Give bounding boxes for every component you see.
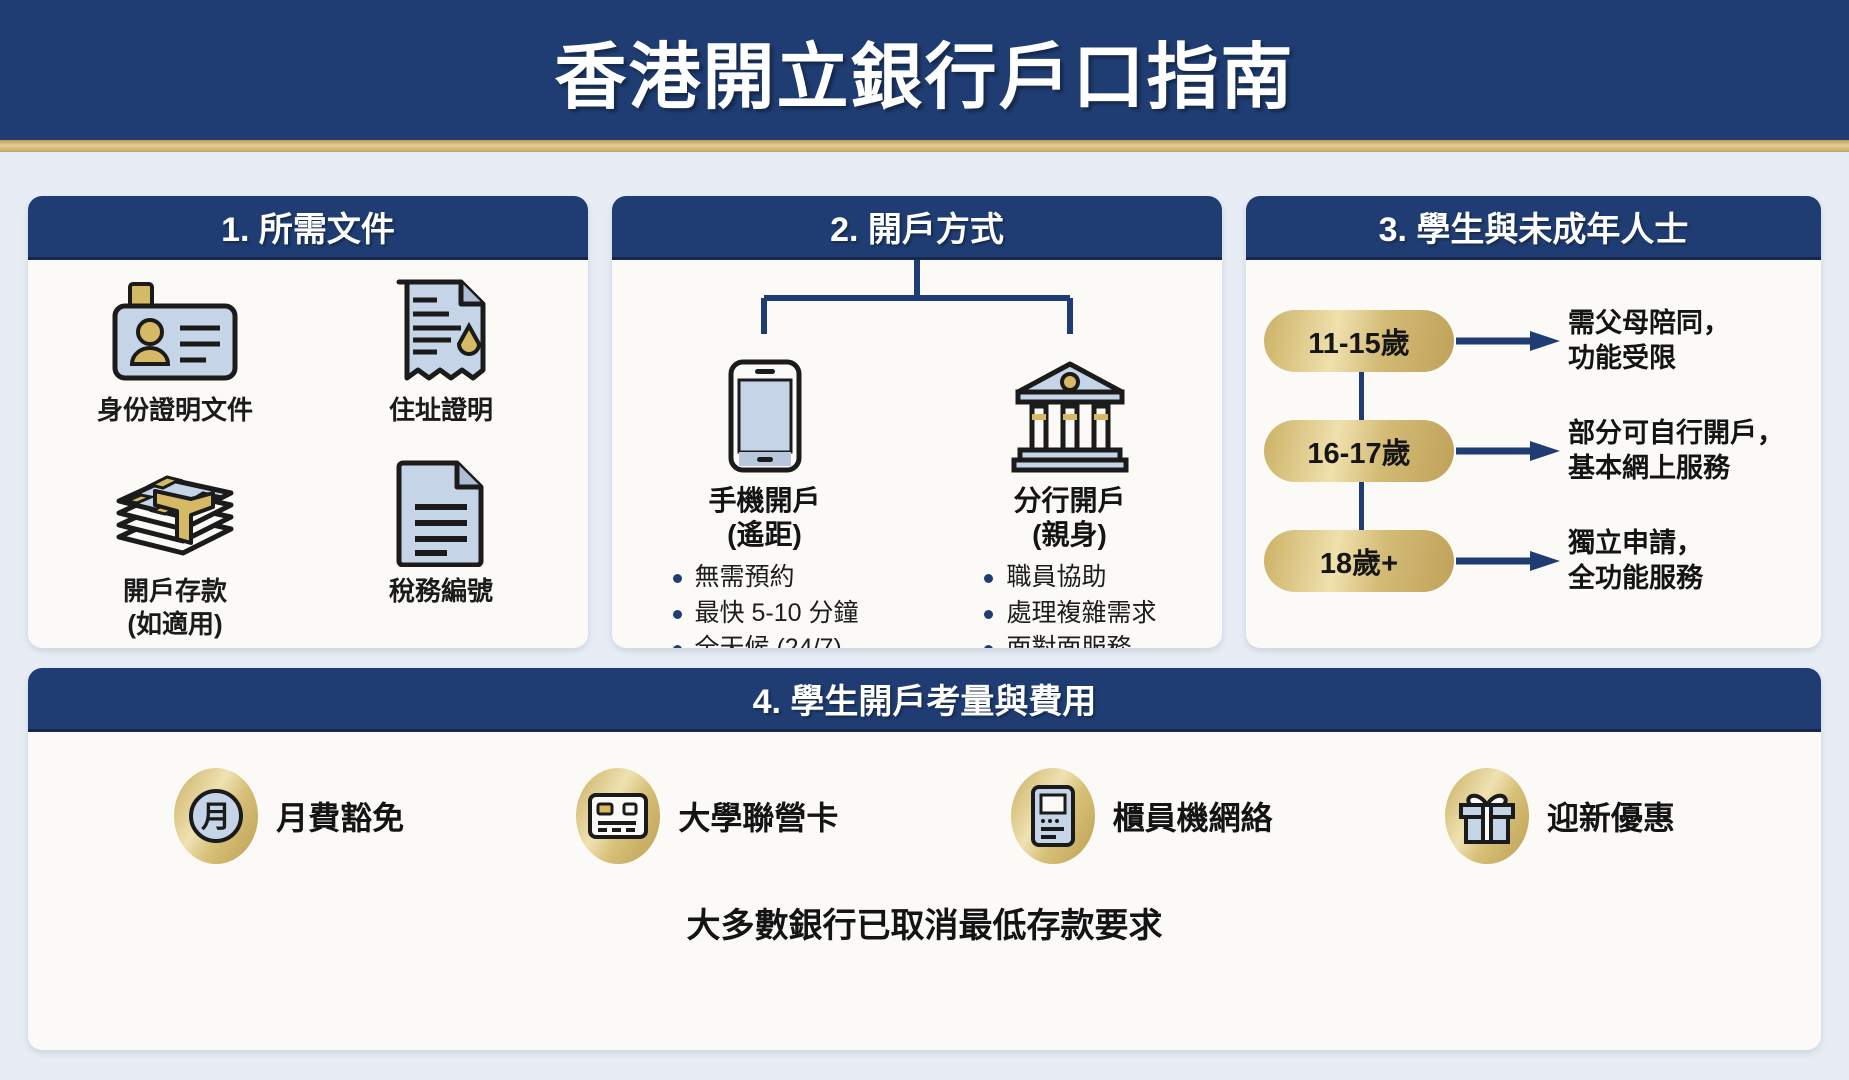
arrow-right-icon <box>1456 328 1564 354</box>
card-account-opening-methods: 2. 開戶方式 手機開戶 (遙 <box>612 196 1222 648</box>
perk-item: 大學聯營卡 <box>576 768 838 864</box>
age-pill: 11-15歲 <box>1264 310 1454 372</box>
age-rows: 11-15歲 需父母陪同， 功能受限 16-17歲 部分可自行開戶， 基本網上服… <box>1246 260 1821 648</box>
card2-title: 2. 開戶方式 <box>830 202 1004 251</box>
card1-header: 1. 所需文件 <box>28 196 588 260</box>
perk-label: 迎新優惠 <box>1547 793 1675 839</box>
card2-body: 手機開戶 (遙距) 無需預約 最快 5-10 分鐘 全天候 (24/7) <box>612 260 1222 648</box>
card-students-and-minors: 3. 學生與未成年人士 11-15歲 需父母陪同， 功能受限 16-17歲 <box>1246 196 1821 648</box>
age-pill: 18歲+ <box>1264 530 1454 592</box>
method-bullet: 職員協助 <box>982 560 1156 596</box>
bank-building-icon <box>1010 356 1130 474</box>
perk-item: 櫃員機網絡 <box>1011 768 1273 864</box>
documents-grid: 身份證明文件 <box>28 260 588 648</box>
card3-title: 3. 學生與未成年人士 <box>1379 202 1689 251</box>
arrow-right-icon <box>1456 548 1564 574</box>
method-bullet: 面對面服務 <box>982 631 1156 648</box>
card4-body: 月 月費豁免 <box>28 732 1821 1050</box>
credit-card-icon <box>576 768 660 864</box>
document-item: 開戶存款 (如適用) <box>42 459 308 640</box>
method-bullet: 處理複雜需求 <box>982 596 1156 632</box>
method-bullet-list: 職員協助 處理複雜需求 面對面服務 <box>982 560 1156 648</box>
header-gold-divider <box>0 140 1849 152</box>
perk-label: 月費豁免 <box>276 793 404 839</box>
card-required-documents: 1. 所需文件 身份 <box>28 196 588 648</box>
document-label: 稅務編號 <box>389 575 493 608</box>
method-bullet: 最快 5-10 分鐘 <box>671 596 859 632</box>
age-note: 獨立申請， 全功能服務 <box>1568 526 1703 596</box>
document-label: 住址證明 <box>389 394 493 427</box>
document-item: 身份證明文件 <box>42 278 308 459</box>
card3-body: 11-15歲 需父母陪同， 功能受限 16-17歲 部分可自行開戶， 基本網上服… <box>1246 260 1821 648</box>
id-card-icon <box>112 278 238 386</box>
atm-machine-icon <box>1011 768 1095 864</box>
footnote-text: 大多數銀行已取消最低存款要求 <box>28 898 1821 947</box>
header-banner: 香港開立銀行戶口指南 <box>0 0 1849 140</box>
age-row: 16-17歲 部分可自行開戶， 基本網上服務 <box>1264 396 1807 506</box>
perks-row: 月 月費豁免 <box>28 732 1821 864</box>
document-icon <box>395 459 487 567</box>
perk-label: 櫃員機網絡 <box>1113 793 1273 839</box>
infographic-page: 香港開立銀行戶口指南 1. 所需文件 <box>0 0 1849 1080</box>
cash-stack-icon <box>111 459 239 567</box>
card2-header: 2. 開戶方式 <box>612 196 1222 260</box>
card1-body: 身份證明文件 <box>28 260 588 648</box>
card4-title: 4. 學生開戶考量與費用 <box>753 674 1097 723</box>
month-fee-waiver-icon: 月 <box>174 768 258 864</box>
perk-item: 迎新優惠 <box>1445 768 1675 864</box>
document-item: 住址證明 <box>308 278 574 459</box>
card4-header: 4. 學生開戶考量與費用 <box>28 668 1821 732</box>
card3-header: 3. 學生與未成年人士 <box>1246 196 1821 260</box>
document-label: 開戶存款 (如適用) <box>123 575 227 640</box>
age-note: 部分可自行開戶， 基本網上服務 <box>1568 416 1784 486</box>
arrow-right-icon <box>1456 438 1564 464</box>
gift-icon <box>1445 768 1529 864</box>
svg-text:月: 月 <box>201 801 231 834</box>
method-bullet: 全天候 (24/7) <box>671 631 859 648</box>
card-student-considerations-and-fees: 4. 學生開戶考量與費用 月 月費豁免 <box>28 668 1821 1050</box>
age-note: 需父母陪同， 功能受限 <box>1568 306 1730 376</box>
method-title: 手機開戶 (遙距) <box>708 484 820 552</box>
method-mobile: 手機開戶 (遙距) 無需預約 最快 5-10 分鐘 全天候 (24/7) <box>612 356 917 648</box>
method-bullet: 無需預約 <box>671 560 859 596</box>
age-row: 11-15歲 需父母陪同， 功能受限 <box>1264 286 1807 396</box>
perk-label: 大學聯營卡 <box>678 793 838 839</box>
smartphone-icon <box>727 356 803 474</box>
document-label: 身份證明文件 <box>97 394 253 427</box>
method-branch: 分行開戶 (親身) 職員協助 處理複雜需求 面對面服務 <box>917 356 1222 648</box>
receipt-document-icon <box>393 278 489 386</box>
age-row: 18歲+ 獨立申請， 全功能服務 <box>1264 506 1807 616</box>
method-bullet-list: 無需預約 最快 5-10 分鐘 全天候 (24/7) <box>671 560 859 648</box>
methods-grid: 手機開戶 (遙距) 無需預約 最快 5-10 分鐘 全天候 (24/7) <box>612 356 1222 648</box>
age-pill: 16-17歲 <box>1264 420 1454 482</box>
page-title: 香港開立銀行戶口指南 <box>554 18 1294 123</box>
method-title: 分行開戶 (親身) <box>1013 484 1125 552</box>
card1-title: 1. 所需文件 <box>221 202 395 251</box>
perk-item: 月 月費豁免 <box>174 768 404 864</box>
document-item: 稅務編號 <box>308 459 574 640</box>
